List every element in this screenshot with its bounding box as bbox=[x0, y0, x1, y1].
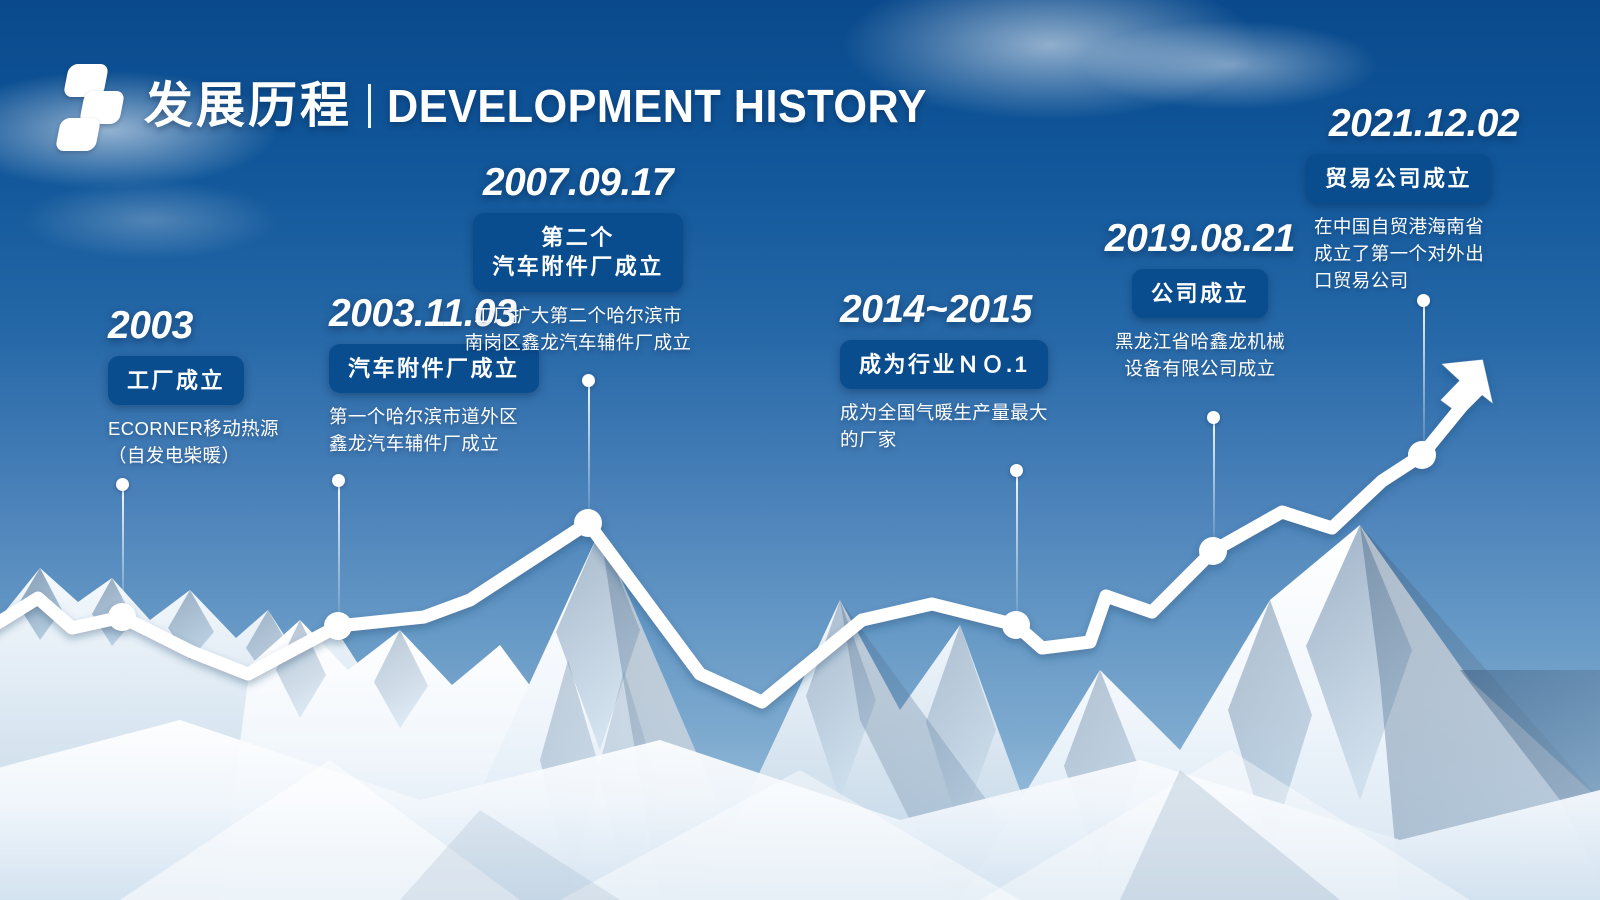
milestone-badge: 成为行业ＮＯ.1 bbox=[840, 340, 1048, 389]
page-title-en: DEVELOPMENT HISTORY bbox=[387, 83, 927, 129]
page-title: 发展历程 DEVELOPMENT HISTORY bbox=[144, 82, 961, 131]
milestone-year: 2014~2015 bbox=[840, 290, 1048, 329]
milestone-year: 2021.12.02 bbox=[1306, 104, 1542, 143]
page-title-cn: 发展历程 bbox=[144, 82, 352, 131]
milestone-badge: 贸易公司成立 bbox=[1306, 154, 1491, 203]
three-rhombus-logo-icon bbox=[58, 62, 124, 150]
milestone-2019-08-21[interactable]: 2019.08.21 公司成立 黑龙江省哈鑫龙机械 设备有限公司成立 bbox=[1080, 219, 1320, 383]
milestone-2014-2015[interactable]: 2014~2015 成为行业ＮＯ.1 成为全国气暖生产量最大 的厂家 bbox=[840, 290, 1048, 454]
milestone-desc: 工厂扩大第二个哈尔滨市 南岗区鑫龙汽车辅件厂成立 bbox=[454, 303, 702, 357]
milestone-desc: 在中国自贸港海南省 成立了第一个对外出 口贸易公司 bbox=[1306, 214, 1542, 294]
milestone-year: 2003 bbox=[108, 306, 279, 345]
milestone-desc: 成为全国气暖生产量最大 的厂家 bbox=[840, 400, 1048, 454]
milestone-2003[interactable]: 2003 工厂成立 ECORNER移动热源 （自发电柴暖） bbox=[108, 306, 279, 470]
milestone-2021-12-02[interactable]: 2021.12.02 贸易公司成立 在中国自贸港海南省 成立了第一个对外出 口贸… bbox=[1306, 104, 1542, 295]
milestone-desc: 第一个哈尔滨市道外区 鑫龙汽车辅件厂成立 bbox=[329, 404, 539, 458]
milestone-year: 2007.09.17 bbox=[454, 163, 702, 202]
milestone-desc: ECORNER移动热源 （自发电柴暖） bbox=[108, 416, 279, 470]
milestone-2007-09-17[interactable]: 2007.09.17 第二个 汽车附件厂成立 工厂扩大第二个哈尔滨市 南岗区鑫龙… bbox=[454, 163, 702, 357]
milestone-desc: 黑龙江省哈鑫龙机械 设备有限公司成立 bbox=[1080, 329, 1320, 383]
milestone-badge: 公司成立 bbox=[1132, 269, 1268, 318]
milestone-year: 2019.08.21 bbox=[1080, 219, 1320, 258]
snow-mountain-photo bbox=[0, 470, 1600, 900]
page-header: 发展历程 DEVELOPMENT HISTORY bbox=[58, 62, 961, 150]
milestone-badge: 工厂成立 bbox=[108, 356, 244, 405]
milestone-badge: 第二个 汽车附件厂成立 bbox=[473, 213, 683, 292]
title-divider bbox=[368, 84, 371, 128]
infographic-canvas: 发展历程 DEVELOPMENT HISTORY 2003 工厂成立 ECORN… bbox=[0, 0, 1600, 900]
